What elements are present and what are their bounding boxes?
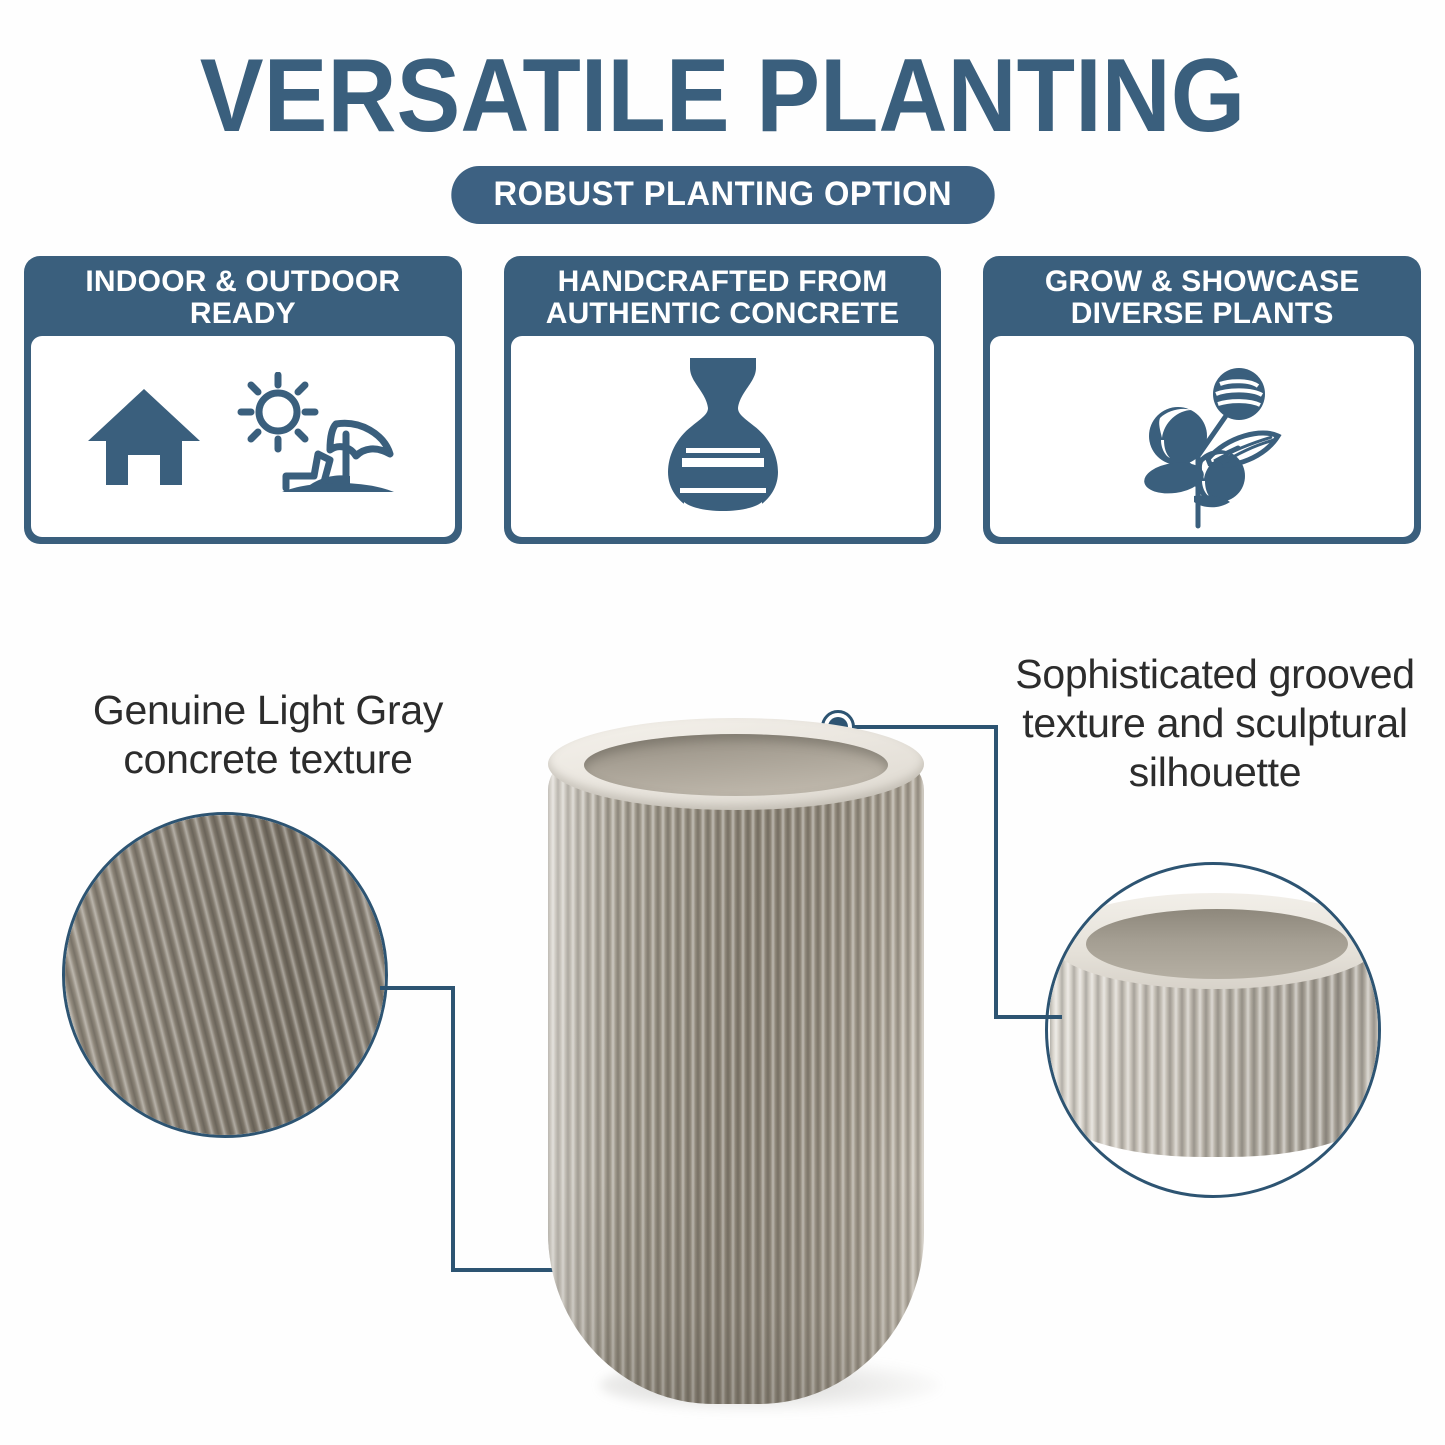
callout-label-right: Sophisticated grooved texture and sculpt… bbox=[1000, 650, 1430, 798]
feature-card-indoor-outdoor: INDOOR & OUTDOOR READY bbox=[24, 256, 462, 544]
feature-card-title: HANDCRAFTED FROM AUTHENTIC CONCRETE bbox=[504, 256, 942, 336]
planter-body bbox=[548, 744, 924, 1404]
feature-card-title: INDOOR & OUTDOOR READY bbox=[24, 256, 462, 336]
connector-right-vertical bbox=[994, 725, 998, 1019]
feature-card-concrete: HANDCRAFTED FROM AUTHENTIC CONCRETE bbox=[504, 256, 942, 544]
feature-card-row: INDOOR & OUTDOOR READY bbox=[24, 256, 1421, 544]
callout-label-left: Genuine Light Gray concrete texture bbox=[48, 686, 488, 784]
connector-left-horizontal-top bbox=[380, 986, 455, 990]
vase-icon bbox=[664, 352, 782, 522]
planter-opening bbox=[584, 734, 888, 796]
page-title: VERSATILE PLANTING bbox=[58, 44, 1387, 148]
feature-card-plants: GROW & SHOWCASE DIVERSE PLANTS bbox=[983, 256, 1421, 544]
detail-zoom-right bbox=[1045, 862, 1381, 1198]
detail-zoom-left-image bbox=[65, 815, 385, 1135]
sun-icon bbox=[226, 372, 401, 502]
feature-card-icons bbox=[31, 336, 455, 537]
feature-card-title: GROW & SHOWCASE DIVERSE PLANTS bbox=[983, 256, 1421, 336]
detail-zoom-right-image bbox=[1048, 865, 1378, 1195]
infographic-canvas: VERSATILE PLANTING ROBUST PLANTING OPTIO… bbox=[0, 0, 1445, 1445]
berry-branch-icon bbox=[1110, 344, 1295, 529]
connector-right-horizontal-bottom bbox=[994, 1015, 1062, 1019]
feature-card-icons bbox=[990, 336, 1414, 537]
detail-zoom-left bbox=[62, 812, 388, 1138]
badge-row: ROBUST PLANTING OPTION bbox=[0, 166, 1445, 224]
product-image-planter bbox=[540, 718, 932, 1418]
house-icon bbox=[84, 379, 204, 495]
connector-left-vertical bbox=[451, 986, 455, 1270]
status-badge: ROBUST PLANTING OPTION bbox=[451, 166, 994, 224]
feature-card-icons bbox=[511, 336, 935, 537]
